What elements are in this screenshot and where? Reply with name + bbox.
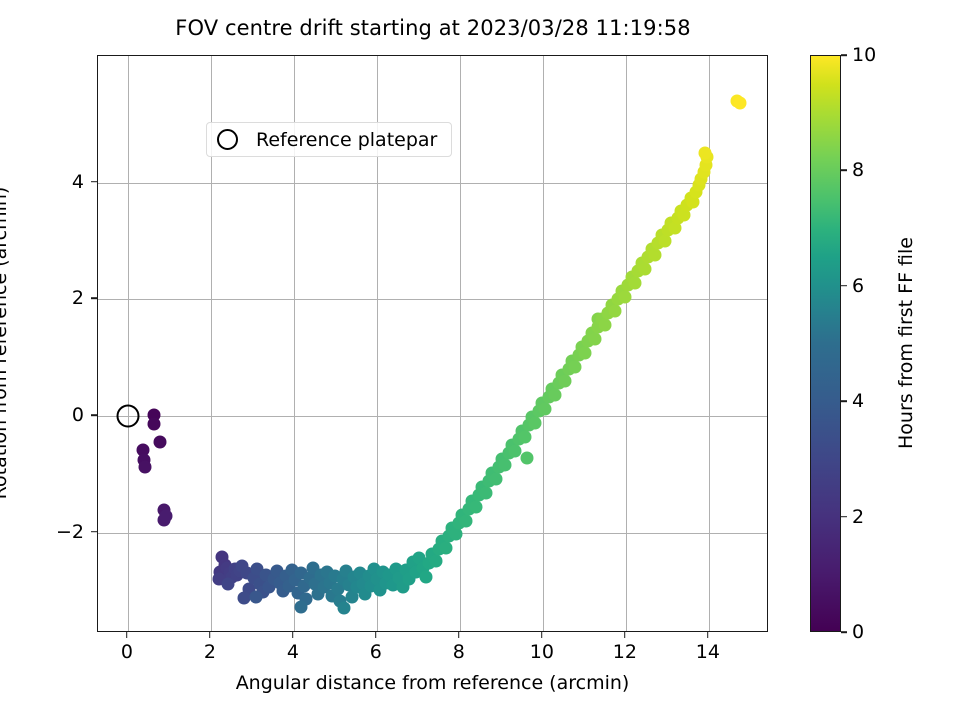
colorbar-tick	[841, 54, 847, 56]
scatter-point	[619, 290, 632, 303]
x-axis-tick	[126, 632, 128, 638]
colorbar-tick-label: 2	[852, 506, 864, 528]
scatter-point	[479, 486, 492, 499]
x-axis-tick-label: 14	[696, 641, 720, 663]
plot-area: Reference platepar	[97, 55, 768, 632]
colorbar-tick	[841, 170, 847, 172]
scatter-point	[638, 262, 651, 275]
y-axis-tick-label: 0	[72, 404, 84, 426]
colorbar-tick-label: 8	[852, 159, 864, 181]
y-axis-tick	[91, 414, 97, 416]
colorbar-tick	[841, 400, 847, 402]
scatter-point	[295, 601, 308, 614]
colorbar-tick-label: 4	[852, 390, 864, 412]
colorbar-tick-label: 6	[852, 275, 864, 297]
y-axis-tick	[91, 297, 97, 299]
figure-canvas: FOV centre drift starting at 2023/03/28 …	[0, 0, 960, 720]
scatter-point	[148, 417, 161, 430]
x-axis-tick-label: 8	[453, 641, 465, 663]
reference-platepar-marker	[116, 404, 139, 427]
x-axis-tick	[624, 632, 626, 638]
y-axis-tick-label: 2	[72, 287, 84, 309]
scatter-point	[521, 451, 534, 464]
scatter-point	[648, 248, 661, 261]
scatter-point	[222, 577, 235, 590]
scatter-point	[519, 430, 532, 443]
scatter-point	[139, 461, 152, 474]
scatter-point	[599, 318, 612, 331]
scatter-point	[539, 402, 552, 415]
scatter-point	[529, 416, 542, 429]
x-axis-tick	[458, 632, 460, 638]
scatter-point	[579, 346, 592, 359]
y-axis-tick-label: −2	[56, 521, 84, 543]
scatter-point	[698, 147, 711, 160]
y-axis-tick	[91, 531, 97, 533]
colorbar-tick-label: 0	[852, 621, 864, 643]
open-circle-icon	[217, 129, 238, 150]
x-axis-tick	[541, 632, 543, 638]
colorbar-tick-label: 10	[852, 44, 876, 66]
colorbar-tick	[841, 516, 847, 518]
scatter-point	[459, 514, 472, 527]
scatter-point	[569, 360, 582, 373]
scatter-point	[609, 304, 622, 317]
scatter-point	[489, 472, 502, 485]
scatter-point	[733, 97, 746, 110]
x-axis-tick-label: 6	[370, 641, 382, 663]
x-axis-tick-label: 2	[204, 641, 216, 663]
scatter-point	[549, 388, 562, 401]
x-axis-tick	[292, 632, 294, 638]
scatter-point	[154, 436, 167, 449]
scatter-point	[419, 570, 432, 583]
colorbar-gradient	[810, 55, 841, 632]
scatter-point	[249, 590, 262, 603]
x-axis-tick-label: 12	[613, 641, 637, 663]
scatter-point	[589, 332, 602, 345]
scatter-point	[469, 500, 482, 513]
x-axis-tick-label: 0	[121, 641, 133, 663]
scatter-point	[499, 458, 512, 471]
x-axis-label: Angular distance from reference (arcmin)	[97, 672, 768, 694]
x-axis-tick-label: 10	[530, 641, 554, 663]
colorbar-tick	[841, 285, 847, 287]
scatter-point	[439, 541, 452, 554]
y-axis-tick-label: 4	[72, 171, 84, 193]
scatter-point	[160, 510, 173, 523]
page-title: FOV centre drift starting at 2023/03/28 …	[0, 16, 866, 40]
colorbar	[810, 55, 841, 632]
x-axis-tick	[375, 632, 377, 638]
scatter-point	[429, 554, 442, 567]
y-axis-tick	[91, 181, 97, 183]
scatter-point	[337, 602, 350, 615]
x-axis-tick	[707, 632, 709, 638]
x-axis-tick-label: 4	[287, 641, 299, 663]
legend-entry-label: Reference platepar	[256, 129, 437, 151]
scatter-point	[628, 276, 641, 289]
x-axis-tick	[209, 632, 211, 638]
colorbar-tick	[841, 631, 847, 633]
legend: Reference platepar	[206, 122, 452, 157]
scatter-point	[559, 374, 572, 387]
